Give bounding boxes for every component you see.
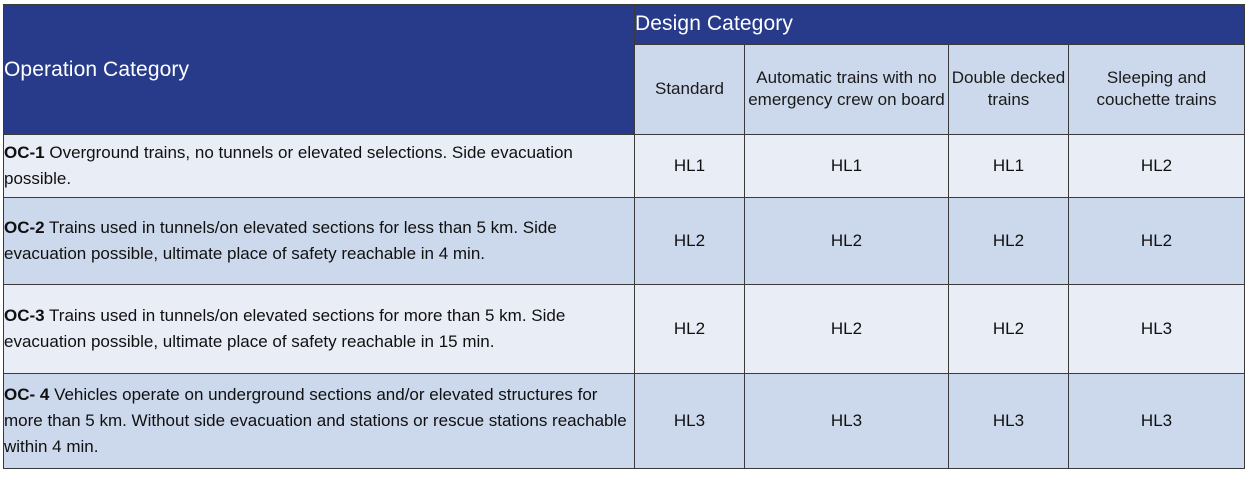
- design-column-standard: Standard: [635, 44, 745, 134]
- hazard-level-cell: HL1: [635, 135, 745, 198]
- operation-code: OC- 4: [4, 385, 49, 404]
- table-header: Operation Category Design Category Stand…: [4, 5, 1245, 135]
- design-column-double-decked: Double decked trains: [949, 44, 1069, 134]
- operation-category-cell: OC-2 Trains used in tunnels/on elevated …: [4, 198, 635, 285]
- hazard-level-cell: HL3: [635, 374, 745, 469]
- hazard-level-cell: HL2: [745, 198, 949, 285]
- hazard-level-cell: HL1: [949, 135, 1069, 198]
- hazard-level-cell: HL2: [635, 198, 745, 285]
- operation-code: OC-3: [4, 306, 45, 325]
- operation-category-header: Operation Category: [4, 5, 635, 135]
- hazard-level-cell: HL3: [1069, 285, 1245, 374]
- hazard-level-cell: HL3: [745, 374, 949, 469]
- table-row: OC- 4 Vehicles operate on underground se…: [4, 374, 1245, 469]
- operation-description: Trains used in tunnels/on elevated secti…: [4, 218, 557, 263]
- design-column-automatic-trains: Automatic trains with no emergency crew …: [745, 44, 949, 134]
- hazard-level-cell: HL1: [745, 135, 949, 198]
- hazard-level-cell: HL2: [1069, 198, 1245, 285]
- operation-code: OC-1: [4, 143, 45, 162]
- operation-description: Trains used in tunnels/on elevated secti…: [4, 306, 565, 351]
- operation-category-cell: OC-1 Overground trains, no tunnels or el…: [4, 135, 635, 198]
- operation-category-cell: OC-3 Trains used in tunnels/on elevated …: [4, 285, 635, 374]
- hazard-level-cell: HL2: [949, 198, 1069, 285]
- header-row-group: Operation Category Design Category: [4, 5, 1245, 45]
- hazard-level-cell: HL3: [1069, 374, 1245, 469]
- hazard-level-cell: HL2: [745, 285, 949, 374]
- hazard-level-cell: HL3: [949, 374, 1069, 469]
- hazard-level-cell: HL2: [1069, 135, 1245, 198]
- table-row: OC-2 Trains used in tunnels/on elevated …: [4, 198, 1245, 285]
- operation-category-cell: OC- 4 Vehicles operate on underground se…: [4, 374, 635, 469]
- table-body: OC-1 Overground trains, no tunnels or el…: [4, 135, 1245, 469]
- design-category-header: Design Category: [635, 5, 1245, 45]
- operation-code: OC-2: [4, 218, 45, 237]
- operation-description: Overground trains, no tunnels or elevate…: [4, 143, 573, 188]
- operation-design-category-table: Operation Category Design Category Stand…: [3, 4, 1245, 469]
- operation-description: Vehicles operate on underground sections…: [4, 385, 627, 456]
- hazard-level-cell: HL2: [949, 285, 1069, 374]
- hazard-level-cell: HL2: [635, 285, 745, 374]
- table-row: OC-1 Overground trains, no tunnels or el…: [4, 135, 1245, 198]
- table-row: OC-3 Trains used in tunnels/on elevated …: [4, 285, 1245, 374]
- table-container: Operation Category Design Category Stand…: [0, 0, 1247, 478]
- design-column-sleeping-couchette: Sleeping and couchette trains: [1069, 44, 1245, 134]
